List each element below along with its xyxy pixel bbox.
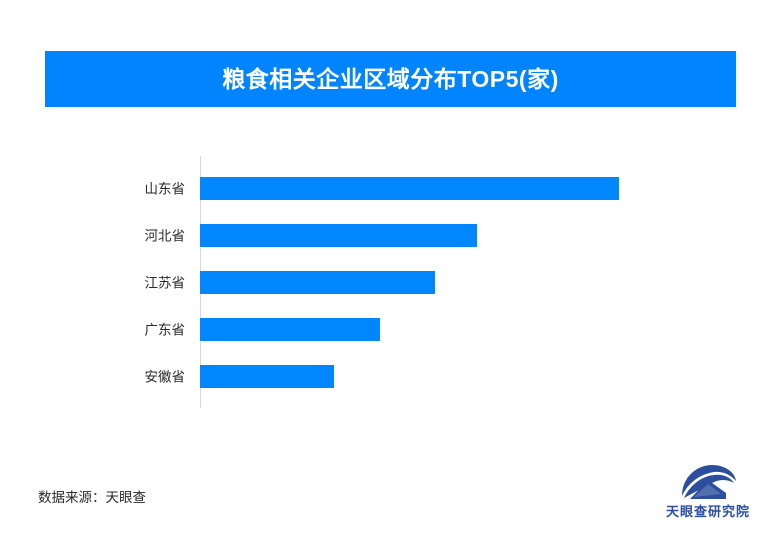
bar xyxy=(200,177,619,200)
infographic-canvas: 粮食相关企业区域分布TOP5(家) 山东省河北省江苏省广东省安徽省 数据来源：天… xyxy=(0,0,783,544)
brand-name-label: 天眼查研究院 xyxy=(666,505,750,518)
category-label: 山东省 xyxy=(60,182,185,196)
bar-row: 安徽省 xyxy=(0,365,783,388)
brand-logo: 天眼查研究院 xyxy=(653,463,763,528)
chart-plot-area: 山东省河北省江苏省广东省安徽省 xyxy=(0,150,783,412)
page-title: 粮食相关企业区域分布TOP5(家) xyxy=(222,68,558,91)
bar-row: 广东省 xyxy=(0,318,783,341)
bar-series: 山东省河北省江苏省广东省安徽省 xyxy=(0,150,783,412)
data-source-note: 数据来源：天眼查 xyxy=(38,491,146,505)
bar xyxy=(200,318,380,341)
category-label: 广东省 xyxy=(60,323,185,337)
bar-row: 山东省 xyxy=(0,177,783,200)
bar xyxy=(200,365,334,388)
category-label: 江苏省 xyxy=(60,276,185,290)
bar xyxy=(200,271,435,294)
tianyancha-eye-arch-logo-icon xyxy=(678,463,738,503)
bar xyxy=(200,224,477,247)
category-label: 安徽省 xyxy=(60,370,185,384)
bar-row: 江苏省 xyxy=(0,271,783,294)
chart-title-band: 粮食相关企业区域分布TOP5(家) xyxy=(45,51,736,107)
category-label: 河北省 xyxy=(60,229,185,243)
bar-row: 河北省 xyxy=(0,224,783,247)
